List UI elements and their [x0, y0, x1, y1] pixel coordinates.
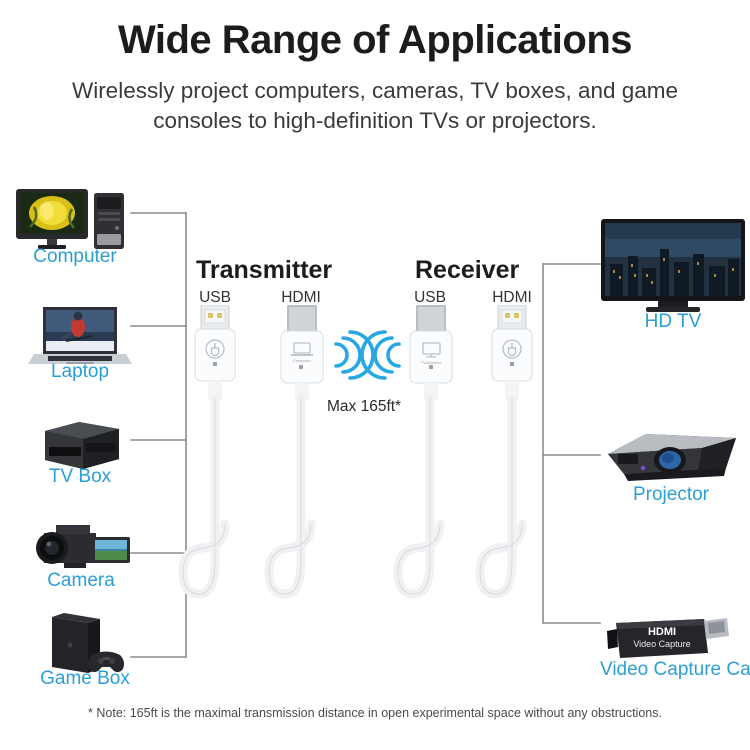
infographic-canvas: Wide Range of Applications Wirelessly pr…: [0, 0, 750, 750]
cables: [0, 0, 750, 750]
footnote: * Note: 165ft is the maximal transmissio…: [0, 706, 750, 720]
